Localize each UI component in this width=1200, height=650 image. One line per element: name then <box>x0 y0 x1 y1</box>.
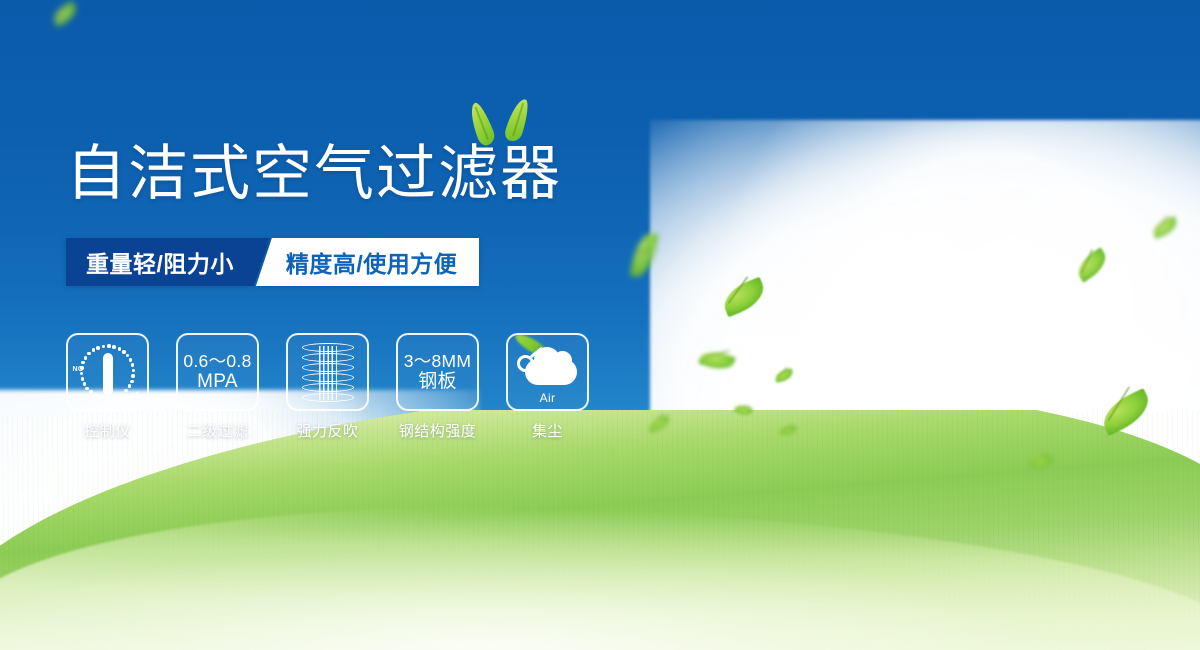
gauge-tick <box>132 369 136 373</box>
feature-icon-box: NO OFF <box>66 333 149 411</box>
leaf-icon <box>1150 216 1180 239</box>
steel-plate-text-icon: 3～8MM 钢板 <box>404 351 472 393</box>
gauge-tick <box>131 363 135 367</box>
leaf-icon <box>629 230 658 279</box>
title-block: 自洁式空气过滤器 <box>66 140 562 207</box>
feature-label: 二级过滤 <box>186 420 248 441</box>
gauge-tick <box>118 347 122 351</box>
filter-ring <box>302 363 354 372</box>
gauge-needle <box>103 353 113 395</box>
gauge-tick <box>80 372 84 376</box>
gauge-tick <box>80 366 84 370</box>
gauge-tick <box>128 384 132 388</box>
filter-ring <box>302 383 354 392</box>
leaf-icon <box>719 277 770 318</box>
gauge-tick <box>94 393 98 397</box>
gauge-tick <box>89 390 93 394</box>
gauge-tick <box>112 345 116 349</box>
sprout-leaves-icon <box>469 94 543 152</box>
feature-label: 强力反吹 <box>296 420 358 441</box>
feature-item-dust-collection[interactable]: Air 集尘 <box>506 333 589 441</box>
gauge-tick <box>122 350 126 354</box>
gauge-tick <box>99 395 103 399</box>
pressure-text-icon: 0.6～0.8 MPA <box>183 351 251 393</box>
sprout-leaf-right <box>503 96 532 143</box>
feature-label: 集尘 <box>532 420 563 441</box>
gauge-label-off: OFF <box>125 391 141 402</box>
feature-item-two-stage-filter[interactable]: 0.6～0.8 MPA 二级过滤 <box>176 333 259 441</box>
gauge-tick <box>124 389 128 393</box>
gauge-tick <box>96 346 100 350</box>
filter-ring <box>302 343 354 352</box>
product-banner: 自洁式空气过滤器 重量轻/阻力小 精度高/使用方便 NO OFF 控制仪 0.6… <box>0 0 1200 650</box>
gauge-tick <box>92 348 96 352</box>
grass-field <box>0 410 1200 650</box>
air-cloud-icon: Air <box>515 341 581 403</box>
gauge-tick <box>107 344 111 348</box>
pressure-value: 0.6～0.8 <box>183 351 251 371</box>
filter-ring <box>302 393 354 402</box>
leaf-icon <box>698 347 736 374</box>
feature-icon-box <box>286 333 369 411</box>
air-label: Air <box>515 391 581 405</box>
gauge-tick <box>129 358 133 362</box>
steel-thickness: 3～8MM <box>404 351 472 371</box>
tagline-primary: 重量轻/阻力小 <box>66 238 270 286</box>
filter-ring <box>302 373 354 382</box>
filter-cartridge-icon <box>300 341 356 403</box>
tagline-ribbon: 重量轻/阻力小 精度高/使用方便 <box>66 238 479 286</box>
gauge-tick <box>83 382 87 386</box>
gauge-tick <box>102 345 106 349</box>
gauge-tick <box>81 377 85 381</box>
steel-material: 钢板 <box>404 371 472 393</box>
pressure-unit: MPA <box>183 371 251 393</box>
sprout-leaf-left <box>466 100 498 147</box>
tagline-secondary: 精度高/使用方便 <box>256 238 479 286</box>
gauge-tick <box>131 374 135 378</box>
feature-icon-box: 0.6～0.8 MPA <box>176 333 259 411</box>
feature-label: 钢结构强度 <box>399 420 477 441</box>
gauge-dial-icon: NO OFF <box>73 340 143 404</box>
leaf-icon <box>50 1 80 27</box>
gauge-tick <box>84 356 88 360</box>
feature-label: 控制仪 <box>84 420 131 441</box>
gauge-tick <box>130 380 134 384</box>
leaf-icon <box>1072 247 1111 283</box>
feature-list: NO OFF 控制仪 0.6～0.8 MPA 二级过滤 强 <box>66 333 589 441</box>
feature-item-backflush[interactable]: 强力反吹 <box>286 333 369 441</box>
feature-icon-box: Air <box>506 333 589 411</box>
gauge-tick <box>126 354 130 358</box>
gauge-tick <box>87 352 91 356</box>
feature-item-controller[interactable]: NO OFF 控制仪 <box>66 333 149 441</box>
filter-ring <box>302 353 354 362</box>
gauge-tick <box>81 361 85 365</box>
feature-icon-box: 3～8MM 钢板 <box>396 333 479 411</box>
leaf-icon <box>774 368 794 383</box>
feature-item-steel-strength[interactable]: 3～8MM 钢板 钢结构强度 <box>396 333 479 441</box>
grass-highlight <box>0 500 1200 650</box>
